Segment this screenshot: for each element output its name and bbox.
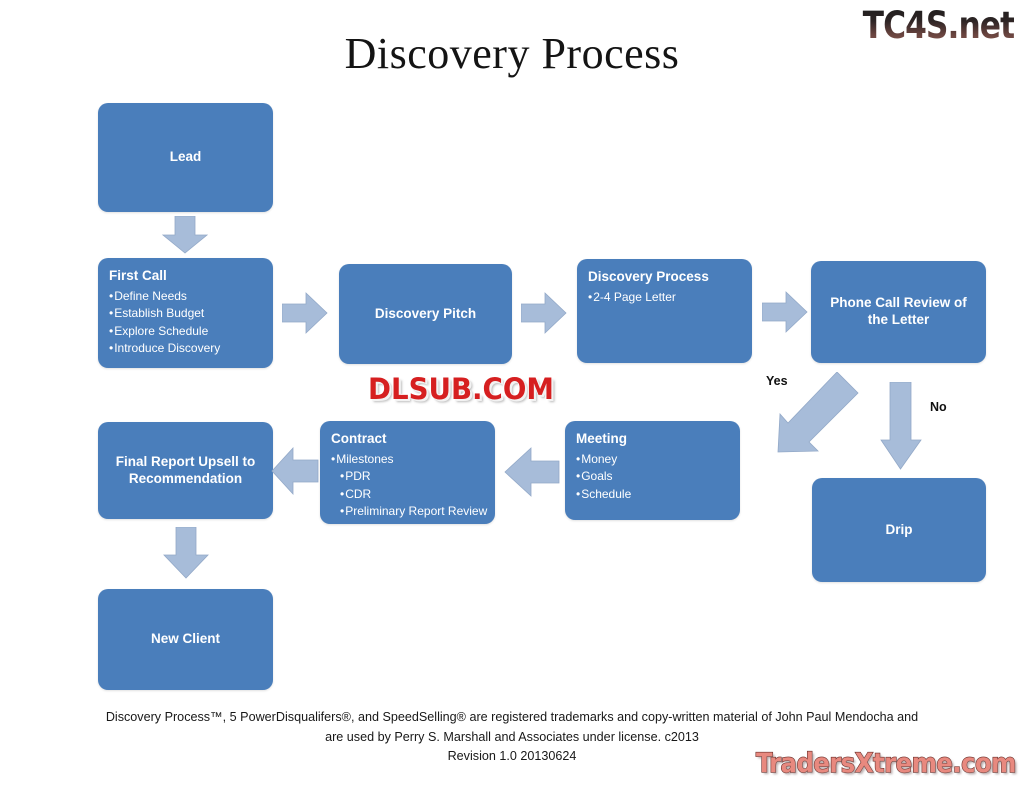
edge-label-no: No bbox=[930, 400, 947, 414]
node-discovery-pitch-label: Discovery Pitch bbox=[375, 306, 476, 323]
node-contract-label: Contract bbox=[331, 431, 484, 448]
node-first-call[interactable]: First Call Define Needs Establish Budget… bbox=[98, 258, 273, 368]
arrow-contract-to-final-report bbox=[271, 446, 319, 496]
node-drip-label: Drip bbox=[886, 522, 913, 539]
edge-label-yes: Yes bbox=[766, 374, 788, 388]
node-contract-bullets: Milestones PDR CDR Preliminary Report Re… bbox=[331, 451, 484, 521]
tradersxtreme-logo: TradersXtreme.com bbox=[756, 748, 1016, 779]
list-item: Preliminary Report Review bbox=[331, 503, 484, 520]
node-first-call-bullets: Define Needs Establish Budget Explore Sc… bbox=[109, 288, 262, 358]
list-item: Introduce Discovery bbox=[109, 340, 262, 357]
list-item: PDR bbox=[331, 468, 484, 485]
node-drip[interactable]: Drip bbox=[812, 478, 986, 582]
node-meeting[interactable]: Meeting Money Goals Schedule bbox=[565, 421, 740, 520]
list-item: 2-4 Page Letter bbox=[588, 289, 741, 306]
node-meeting-bullets: Money Goals Schedule bbox=[576, 451, 729, 503]
list-item: Schedule bbox=[576, 486, 729, 503]
arrow-discovery-process-to-phone-call-review bbox=[762, 290, 808, 334]
node-final-report[interactable]: Final Report Upsell to Recommendation bbox=[98, 422, 273, 519]
node-lead-label: Lead bbox=[170, 149, 202, 166]
node-lead[interactable]: Lead bbox=[98, 103, 273, 212]
list-item: Money bbox=[576, 451, 729, 468]
node-final-report-label: Final Report Upsell to Recommendation bbox=[107, 454, 264, 488]
list-item: Explore Schedule bbox=[109, 323, 262, 340]
node-phone-call-review-label: Phone Call Review of the Letter bbox=[825, 295, 972, 329]
arrow-discovery-pitch-to-discovery-process bbox=[521, 291, 567, 335]
arrow-meeting-to-contract bbox=[504, 446, 560, 498]
arrow-phone-call-review-to-meeting bbox=[742, 372, 860, 454]
node-contract[interactable]: Contract Milestones PDR CDR Preliminary … bbox=[320, 421, 495, 524]
node-first-call-label: First Call bbox=[109, 268, 262, 285]
arrow-phone-call-review-to-drip bbox=[880, 382, 922, 470]
dlsub-watermark: DLSUB.COM bbox=[368, 372, 554, 406]
list-item: Milestones bbox=[331, 451, 484, 468]
page-title: Discovery Process bbox=[0, 28, 1024, 79]
list-item: Establish Budget bbox=[109, 305, 262, 322]
footer-line-2: are used by Perry S. Marshall and Associ… bbox=[0, 728, 1024, 748]
discovery-process-diagram: TC4S.net Discovery Process Lead First Ca… bbox=[0, 0, 1024, 791]
node-new-client[interactable]: New Client bbox=[98, 589, 273, 690]
node-meeting-label: Meeting bbox=[576, 431, 729, 448]
arrow-first-call-to-discovery-pitch bbox=[282, 291, 328, 335]
arrow-lead-to-first-call bbox=[162, 216, 208, 254]
footer-line-1: Discovery Process™, 5 PowerDisqualifers®… bbox=[0, 708, 1024, 728]
list-item: Define Needs bbox=[109, 288, 262, 305]
node-phone-call-review[interactable]: Phone Call Review of the Letter bbox=[811, 261, 986, 363]
node-discovery-process[interactable]: Discovery Process 2-4 Page Letter bbox=[577, 259, 752, 363]
list-item: Goals bbox=[576, 468, 729, 485]
node-discovery-pitch[interactable]: Discovery Pitch bbox=[339, 264, 512, 364]
node-new-client-label: New Client bbox=[151, 631, 220, 648]
arrow-final-report-to-new-client bbox=[163, 527, 209, 579]
list-item: CDR bbox=[331, 486, 484, 503]
node-discovery-process-label: Discovery Process bbox=[588, 269, 741, 286]
node-discovery-process-bullets: 2-4 Page Letter bbox=[588, 289, 741, 306]
